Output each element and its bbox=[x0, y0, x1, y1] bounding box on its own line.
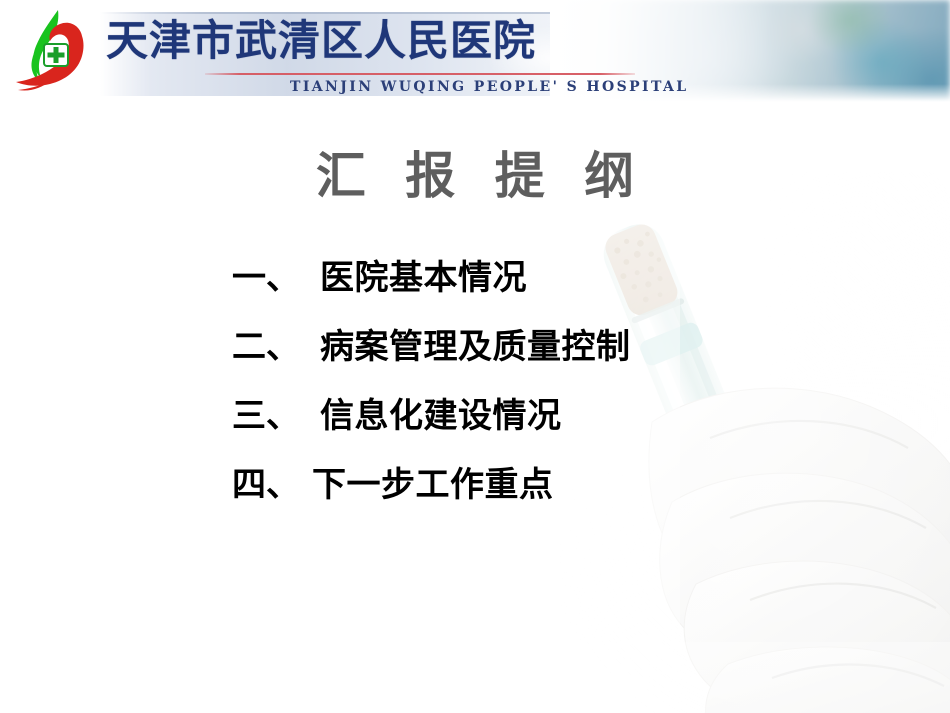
outline-item-2-number: 二、 bbox=[232, 319, 320, 368]
outline-item-4-label: 下一步工作重点 bbox=[312, 457, 554, 506]
hospital-logo-icon bbox=[8, 6, 100, 98]
slide-header-banner: 天津市武清区人民医院 TIANJIN WUQING PEOPLE' S HOSP… bbox=[0, 0, 950, 102]
hospital-name-english: TIANJIN WUQING PEOPLE' S HOSPITAL bbox=[290, 79, 689, 95]
outline-item-3[interactable]: 三、 信息化建设情况 bbox=[232, 388, 852, 457]
outline-item-1-number: 一、 bbox=[232, 250, 320, 299]
hospital-name-chinese: 天津市武清区人民医院 bbox=[106, 18, 536, 64]
outline-item-1-label: 医院基本情况 bbox=[320, 250, 527, 299]
outline-item-2-label: 病案管理及质量控制 bbox=[320, 319, 631, 368]
header-red-divider bbox=[205, 73, 635, 75]
outline-item-1[interactable]: 一、 医院基本情况 bbox=[232, 250, 852, 319]
outline-list: 一、 医院基本情况 二、 病案管理及质量控制 三、 信息化建设情况 四、 下一步… bbox=[232, 250, 852, 526]
outline-item-4[interactable]: 四、 下一步工作重点 bbox=[232, 457, 852, 526]
presentation-slide: 天津市武清区人民医院 TIANJIN WUQING PEOPLE' S HOSP… bbox=[0, 0, 950, 713]
outline-item-4-number: 四、 bbox=[232, 457, 312, 506]
outline-item-3-number: 三、 bbox=[232, 388, 320, 437]
page-title: 汇 报 提 纲 bbox=[0, 146, 950, 206]
slide-body: 汇 报 提 纲 一、 医院基本情况 二、 病案管理及质量控制 三、 信息化建设情… bbox=[0, 102, 950, 713]
outline-item-2[interactable]: 二、 病案管理及质量控制 bbox=[232, 319, 852, 388]
outline-item-3-label: 信息化建设情况 bbox=[320, 388, 562, 437]
